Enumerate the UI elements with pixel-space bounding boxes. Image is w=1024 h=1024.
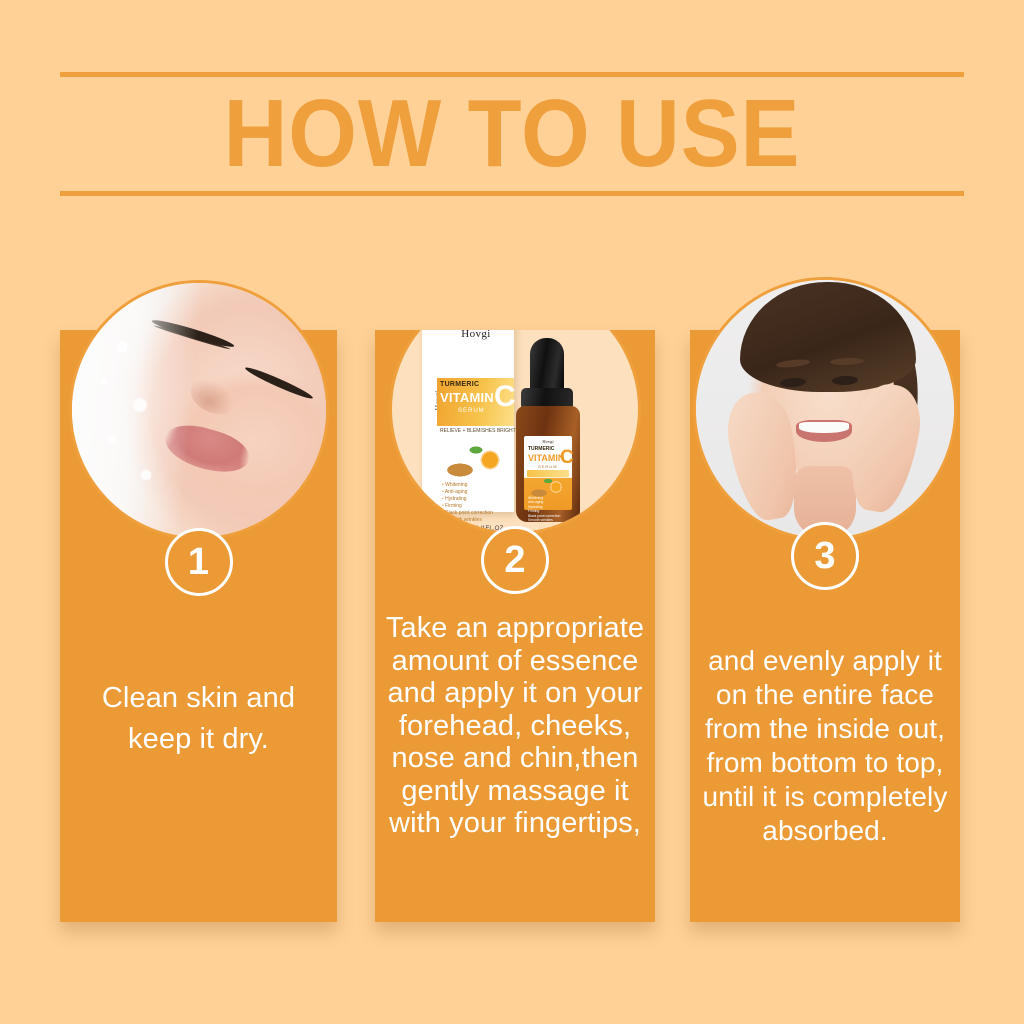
step-number-badge-1: 1 [165, 528, 233, 596]
orange-slice-icon [438, 444, 514, 480]
bullet-item: Black point correction [442, 510, 493, 517]
bullet-item: Hydrating [442, 496, 493, 503]
step-1-text: Clean skin and keep it dry. [68, 678, 329, 760]
washing-face-illustration [72, 283, 326, 537]
smiling-mouth-icon [796, 420, 852, 442]
dropper-bottle: Hovgi TURMERIC VITAMIN C SERUM Whitening [510, 338, 586, 524]
product-box-serum-label: SERUM [458, 408, 485, 414]
bullet-item: Smooth wrinkles [442, 517, 493, 524]
product-box-brand: Hovgi [440, 330, 512, 340]
bullet-item: Smooth wrinkles [528, 518, 560, 522]
how-to-use-infographic: HOW TO USE 1 Clean skin and keep it dry. [0, 0, 1024, 1024]
step-card-2: Hovgi Hovgi TURMERIC VITAMIN C SERUM REL… [375, 330, 655, 922]
bottle-label-turmeric: TURMERIC [528, 446, 554, 452]
dropper-cap-icon [530, 338, 564, 394]
hair-shape [740, 282, 916, 392]
product-box-bullets: Whitening Anti-aging Hydrating Firming B… [442, 482, 493, 524]
bottle-label-serum: SERUM [538, 464, 557, 469]
step-1-photo [69, 280, 329, 540]
step-2-photo: Hovgi Hovgi TURMERIC VITAMIN C SERUM REL… [389, 330, 641, 535]
product-box-vitamin-label: VITAMIN [440, 390, 494, 405]
step-3-photo [693, 277, 957, 541]
bottle-label-brand: Hovgi [524, 439, 572, 444]
water-splash-icon [69, 280, 210, 540]
serum-product-illustration: Hovgi Hovgi TURMERIC VITAMIN C SERUM REL… [392, 330, 638, 532]
teeth-shape [799, 422, 849, 433]
smiling-face-illustration [696, 280, 954, 538]
bottle-label-vitamin-letter: C [560, 448, 574, 467]
bottle-label-vitamin: VITAMIN [528, 453, 564, 463]
steps-container: 1 Clean skin and keep it dry. Hovgi Hovg… [0, 0, 1024, 1024]
step-card-1: 1 Clean skin and keep it dry. [60, 330, 337, 922]
orange-slice-icon [526, 478, 570, 498]
bottle-label-strip [527, 470, 569, 477]
product-box-turmeric-label: TURMERIC [440, 381, 479, 388]
bullet-item: Anti-aging [442, 489, 493, 496]
step-number-badge-3: 3 [791, 522, 859, 590]
eyelash-icon [243, 364, 314, 401]
bullet-item: Firming [442, 503, 493, 510]
bottle-label: Hovgi TURMERIC VITAMIN C SERUM Whitening [524, 436, 572, 510]
step-2-text: Take an appropriate amount of essence an… [383, 612, 647, 840]
bottle-label-bullets: Whitening Anti-aging Hydrating Firming B… [528, 496, 560, 522]
step-card-3: 3 and evenly apply it on the entire face… [690, 330, 960, 922]
amber-glass-bottle: Hovgi TURMERIC VITAMIN C SERUM Whitening [516, 406, 580, 522]
step-3-text: and evenly apply it on the entire face f… [698, 644, 952, 848]
step-number-badge-2: 2 [481, 526, 549, 594]
bullet-item: Whitening [442, 482, 493, 489]
